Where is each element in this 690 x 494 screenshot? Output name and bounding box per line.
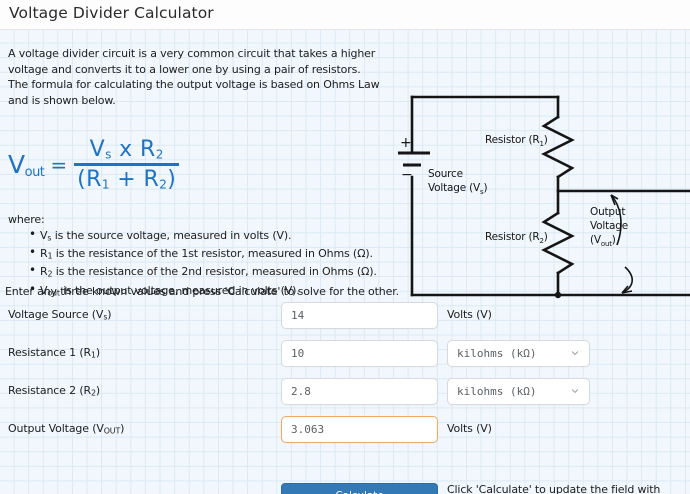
formula-fraction: Vs x R2 (R1 + R2)	[74, 139, 179, 191]
denominator-r1-sub: 1	[102, 177, 110, 191]
intro-paragraph: A voltage divider circuit is a very comm…	[8, 46, 380, 108]
label-resistance-1: Resistance 1 (R1)	[8, 345, 268, 363]
resistance-2-unit-select[interactable]: kilohms (kΩ)	[447, 378, 590, 405]
resistor-1-zigzag	[544, 117, 572, 177]
formula-lhs: Vout	[8, 152, 44, 179]
numerator-v-sub: s	[105, 148, 112, 162]
output-voltage-input[interactable]: 3.063	[281, 416, 438, 443]
output-voltage-label-line3: (Vout)	[590, 234, 616, 248]
label-main: Resistance 2 (R	[8, 384, 91, 397]
symbol: R	[40, 265, 48, 278]
battery-minus-label: −	[401, 167, 413, 183]
calculate-button[interactable]: Calculate	[281, 483, 438, 494]
formula-lhs-sub: out	[25, 164, 45, 179]
output-voltage-unit: Volts (V)	[447, 421, 492, 437]
fraction-bar	[74, 163, 179, 166]
resistor-1-label: Resistor (R1)	[485, 134, 548, 148]
numerator-times-r: x R	[112, 137, 156, 162]
source-voltage-label-line1: Source	[428, 168, 463, 180]
definition-text: is the resistance of the 1st resistor, m…	[52, 247, 372, 260]
denominator-plus-r2: + R	[110, 167, 159, 192]
formula-equals: =	[50, 153, 67, 177]
calculate-hint: Click 'Calculate' to update the field wi…	[447, 482, 685, 494]
label-voltage-source: Voltage Source (Vs)	[8, 307, 268, 325]
list-item: Vs is the source voltage, measured in vo…	[29, 228, 389, 246]
definition-text: is the source voltage, measured in volts…	[51, 229, 291, 242]
app-header: Voltage Divider Calculator	[0, 0, 690, 30]
list-item: R2 is the resistance of the 2nd resistor…	[29, 264, 389, 282]
circuit-diagram: + − Resistor (R1) Resistor (R2) Source V…	[398, 55, 690, 305]
label-resistance-2: Resistance 2 (R2)	[8, 383, 268, 401]
label-sub: OUT	[104, 427, 120, 436]
resistance-1-unit-value: kilohms (kΩ)	[457, 347, 536, 360]
chevron-down-icon	[571, 387, 579, 395]
voltage-source-unit: Volts (V)	[447, 307, 492, 323]
resistance-1-input[interactable]: 10	[281, 340, 438, 367]
symbol: R	[40, 247, 48, 260]
label-post: )	[107, 308, 111, 321]
denominator-r1: (R	[77, 167, 102, 192]
output-voltage-label-line2: Voltage	[590, 220, 628, 232]
resistance-1-unit-select[interactable]: kilohms (kΩ)	[447, 340, 590, 367]
battery-plus-label: +	[400, 135, 412, 151]
output-voltage-label-line1: Output	[590, 206, 625, 218]
resistor-2-label: Resistor (R2)	[485, 231, 548, 245]
arrow-output-lower-curve	[622, 267, 632, 293]
formula-numerator: Vs x R2	[87, 139, 167, 161]
label-output-voltage: Output Voltage (VOUT)	[8, 421, 268, 439]
content-sheet: A voltage divider circuit is a very comm…	[0, 30, 690, 494]
resistance-2-input[interactable]: 2.8	[281, 378, 438, 405]
label-main: Output Voltage (V	[8, 422, 104, 435]
label-main: Resistance 1 (R	[8, 346, 91, 359]
label-post: )	[120, 422, 124, 435]
resistance-2-unit-value: kilohms (kΩ)	[457, 385, 536, 398]
page-title: Voltage Divider Calculator	[9, 4, 214, 22]
formula-lhs-main: V	[8, 150, 25, 179]
numerator-v: V	[90, 137, 105, 162]
instruction-text: Enter any three known values and press '…	[5, 284, 455, 300]
voltage-divider-calculator-page: Voltage Divider Calculator A voltage div…	[0, 0, 690, 494]
junction-dot	[555, 292, 561, 298]
resistor-2-zigzag	[544, 213, 572, 273]
formula-denominator: (R1 + R2)	[74, 169, 179, 191]
numerator-r-sub: 2	[156, 148, 164, 162]
denominator-close: )	[167, 167, 176, 192]
definition-text: is the resistance of the 2nd resistor, m…	[52, 265, 376, 278]
voltage-source-input[interactable]: 14	[281, 302, 438, 329]
label-main: Voltage Source (V	[8, 308, 103, 321]
label-post: )	[96, 384, 100, 397]
source-voltage-label-line2: Voltage (Vs)	[428, 182, 487, 196]
label-post: )	[96, 346, 100, 359]
list-item: R1 is the resistance of the 1st resistor…	[29, 246, 389, 264]
chevron-down-icon	[571, 349, 579, 357]
where-label: where:	[8, 212, 45, 228]
voltage-divider-formula: Vout = Vs x R2 (R1 + R2)	[8, 136, 179, 194]
